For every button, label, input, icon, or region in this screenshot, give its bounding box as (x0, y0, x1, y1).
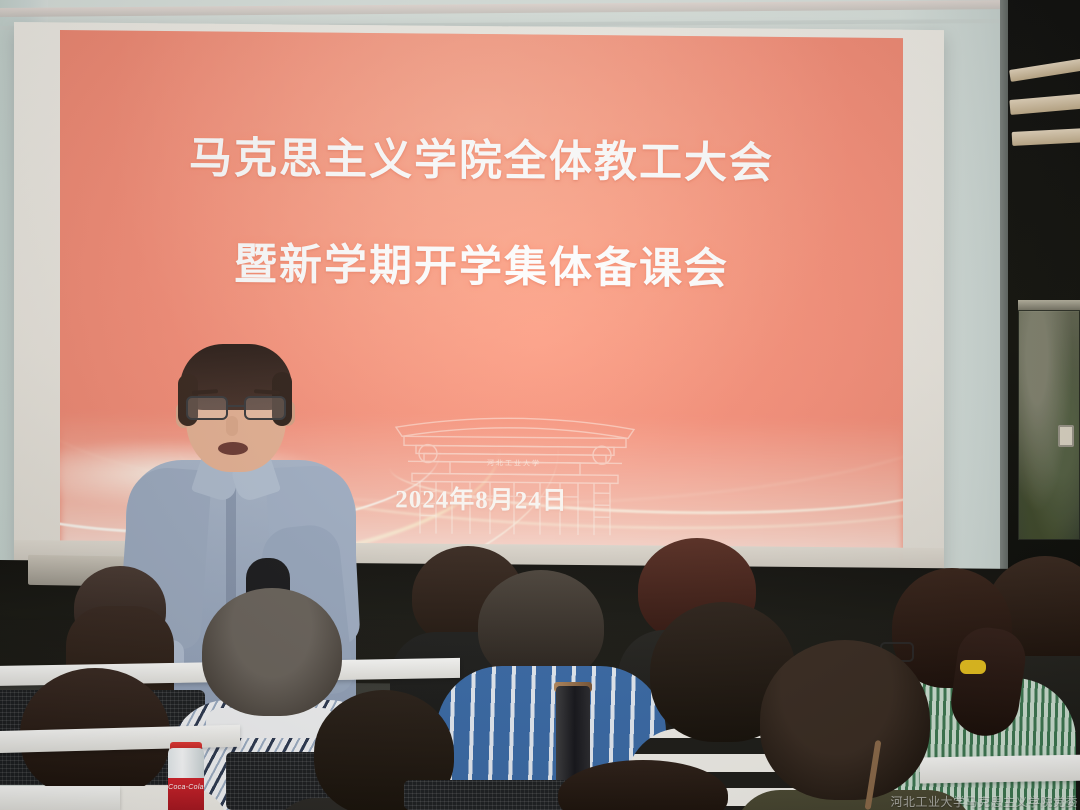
bottle-label-text: Coca-Cola (168, 784, 204, 791)
glasses-lens-right (244, 396, 286, 420)
desk-row (0, 786, 120, 810)
window-sticker (1058, 425, 1074, 447)
head (558, 760, 728, 810)
head (760, 640, 930, 800)
slide-title-line-2: 暨新学期开学集体备课会 (60, 228, 903, 298)
photo-canvas: 河北工业大学 马克思主义学院全体教工大会 暨新学期开学集体备课会 2024年8月… (0, 0, 1080, 810)
audience-person (548, 760, 748, 810)
speaker-nose (226, 416, 238, 436)
watermark: 河北工业大学马克思主义学院党委 (890, 793, 1078, 810)
hair-tie (960, 660, 986, 674)
glasses-lens-left (186, 396, 228, 420)
audience-person (740, 640, 960, 810)
speaker-mouth (218, 442, 248, 455)
bottle-label (168, 778, 204, 810)
slide-title-line-1: 马克思主义学院全体教工大会 (60, 122, 903, 192)
glasses-bridge (228, 405, 244, 407)
